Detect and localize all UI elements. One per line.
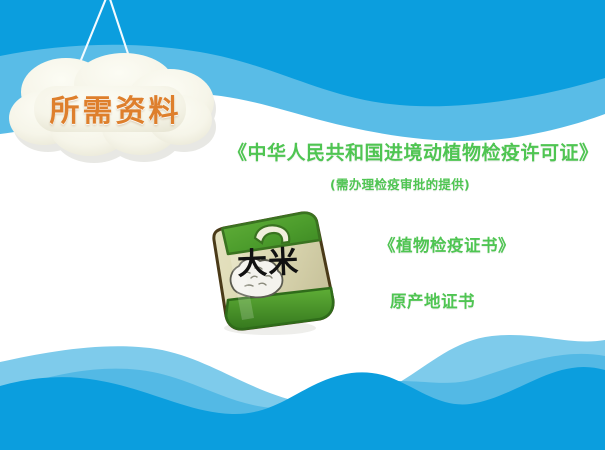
bottom-wave-solid [0,367,605,450]
page-title: 所需资料 [6,52,221,170]
document-item-permit: 《中华人民共和国进境动植物检疫许可证》 [228,138,599,165]
document-item-permit-note: (需办理检疫审批的提供) [330,174,470,193]
slide-canvas: 所需资料 [0,0,605,450]
bottom-wave-mid [0,354,605,450]
bottom-wave-light [0,335,605,450]
document-item-origin: 原产地证书 [390,288,475,312]
document-item-phytosanitary: 《植物检疫证书》 [379,232,515,256]
rice-bag-illustration [198,196,338,338]
